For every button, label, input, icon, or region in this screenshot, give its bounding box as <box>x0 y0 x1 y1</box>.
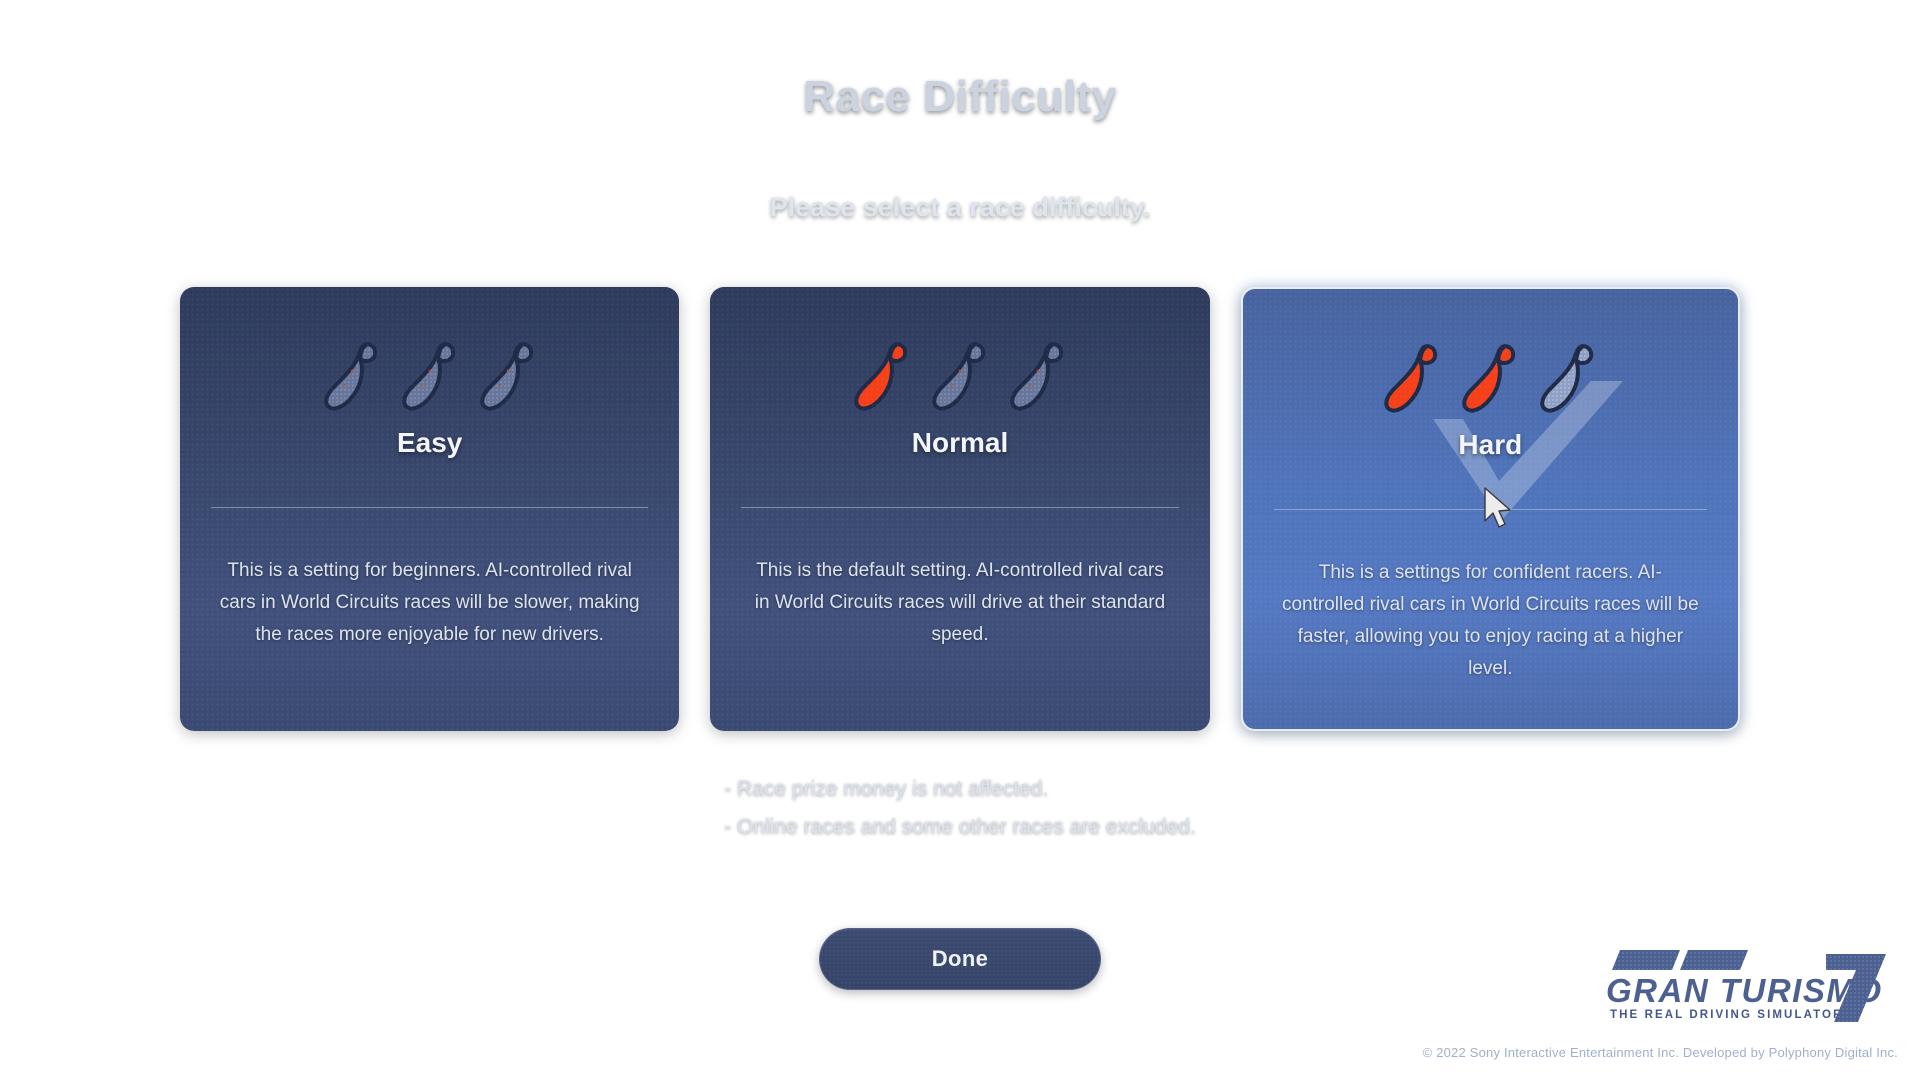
chili-pepper-icon <box>928 337 992 417</box>
chili-pepper-icon <box>476 337 540 417</box>
chili-pepper-icon-active <box>850 337 914 417</box>
card-divider <box>741 507 1178 508</box>
difficulty-description-easy: This is a setting for beginners. AI-cont… <box>218 555 641 651</box>
chili-pepper-icon-active <box>1458 339 1522 419</box>
difficulty-label-normal: Normal <box>710 427 1209 459</box>
difficulty-label-easy: Easy <box>180 427 679 459</box>
chili-pepper-icon <box>1006 337 1070 417</box>
difficulty-card-easy[interactable]: Easy This is a setting for beginners. AI… <box>180 287 679 731</box>
difficulty-options: Easy This is a setting for beginners. AI… <box>180 287 1740 731</box>
pepper-rating-normal <box>710 333 1209 417</box>
chili-pepper-icon <box>320 337 384 417</box>
copyright-text: © 2022 Sony Interactive Entertainment In… <box>1423 1045 1898 1060</box>
page-subtitle: Please select a race difficulty. <box>0 192 1920 223</box>
card-divider <box>211 507 648 508</box>
note-item: - Online races and some other races are … <box>724 808 1196 846</box>
difficulty-description-normal: This is the default setting. AI-controll… <box>748 555 1171 651</box>
svg-text:THE REAL DRIVING SIMULATOR: THE REAL DRIVING SIMULATOR <box>1610 1009 1844 1021</box>
done-button[interactable]: Done <box>819 928 1101 990</box>
chili-pepper-icon <box>1536 339 1600 419</box>
difficulty-description-hard: This is a settings for confident racers.… <box>1281 557 1700 685</box>
gran-turismo-logo: GRAN TURISMO THE REAL DRIVING SIMULATOR <box>1602 944 1902 1028</box>
notes-section: - Race prize money is not affected. - On… <box>0 770 1920 846</box>
race-difficulty-screen: Race Difficulty Please select a race dif… <box>0 0 1920 1080</box>
difficulty-label-hard: Hard <box>1243 429 1738 461</box>
difficulty-card-hard[interactable]: Hard This is a settings for confident ra… <box>1241 287 1740 731</box>
page-title: Race Difficulty <box>0 72 1920 122</box>
chili-pepper-icon <box>398 337 462 417</box>
chili-pepper-icon-active <box>1380 339 1444 419</box>
card-divider <box>1274 509 1707 510</box>
pepper-rating-easy <box>180 333 679 417</box>
pepper-rating-hard <box>1243 335 1738 419</box>
svg-text:GRAN TURISMO: GRAN TURISMO <box>1606 972 1883 1009</box>
note-item: - Race prize money is not affected. <box>724 770 1196 808</box>
difficulty-card-normal[interactable]: Normal This is the default setting. AI-c… <box>710 287 1209 731</box>
